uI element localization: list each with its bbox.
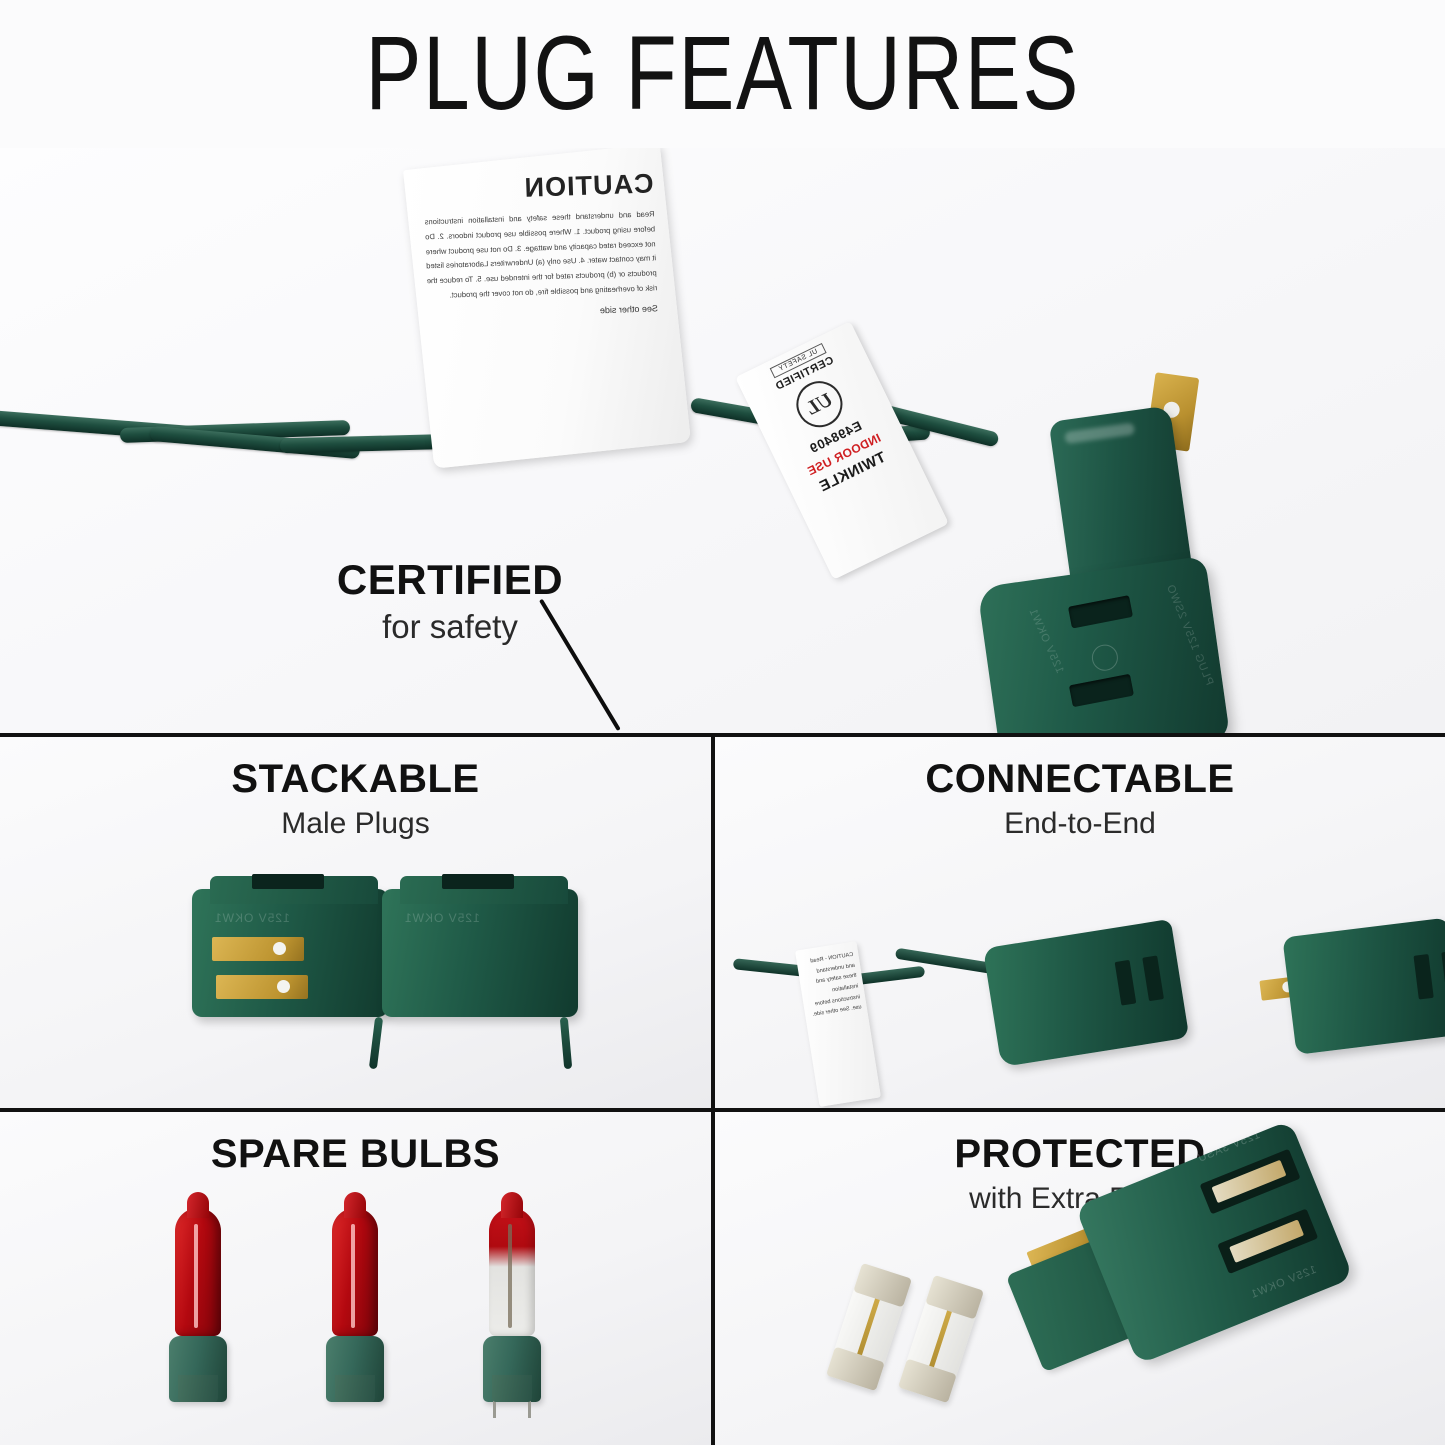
bulb-base — [326, 1336, 384, 1402]
panel-stackable: STACKABLE Male Plugs 125V OKW1 125V OKW1 — [0, 737, 711, 1108]
connectable-ends-photo: CAUTION - Read and understand these safe… — [715, 887, 1445, 1102]
fuse-cap — [925, 1275, 984, 1320]
bulb-glass — [175, 1208, 221, 1336]
panel-spare-bulbs: SPARE BULBS — [0, 1112, 711, 1445]
stacked-male-plugs-photo: 125V OKW1 125V OKW1 — [92, 877, 632, 1087]
socket-slot — [1142, 955, 1164, 1001]
socket-slot — [442, 874, 514, 889]
socket-slot — [1115, 960, 1137, 1006]
bulb-lead-wire — [493, 1398, 496, 1418]
socket-slot — [1068, 595, 1133, 628]
panel-protected: PROTECTED with Extra Fuses 125V 3ASU 125… — [715, 1112, 1445, 1445]
mini-bulb — [161, 1208, 235, 1402]
plug-mold-text: 125V OKW1 — [404, 911, 480, 925]
caution-tag-body: Read and understand these safety and ins… — [424, 207, 657, 304]
panel-protected-heading: PROTECTED — [715, 1132, 1445, 1177]
mini-bulb — [318, 1208, 392, 1402]
certified-callout: CERTIFIED for safety — [0, 556, 900, 646]
bulb-base — [169, 1336, 227, 1402]
caution-tag-small: CAUTION - Read and understand these safe… — [795, 941, 881, 1107]
certified-callout-sub: for safety — [0, 608, 900, 646]
installed-fuse — [1211, 1160, 1286, 1203]
bulb-glass — [489, 1208, 535, 1336]
male-plug-end — [1259, 903, 1445, 1074]
bulb-glass — [332, 1208, 378, 1336]
ul-certification-tag: UL SAFETY CERTIFIED UL E498409 INDOOR US… — [735, 321, 949, 579]
panel-connectable-heading: CONNECTABLE — [715, 757, 1445, 802]
female-socket-end — [980, 901, 1192, 1084]
page-title: PLUG FEATURES — [365, 14, 1080, 134]
socket-slot — [1441, 951, 1445, 997]
panel-connectable-sub: End-to-End — [715, 807, 1445, 841]
ul-emboss-icon — [1090, 643, 1119, 672]
brass-prong-icon — [212, 937, 304, 961]
caution-tag-heading: CAUTION — [423, 168, 654, 207]
certified-callout-heading: CERTIFIED — [0, 556, 900, 604]
panel-connectable: CONNECTABLE End-to-End CAUTION - Read an… — [715, 737, 1445, 1108]
bulb-lead-wire — [528, 1398, 531, 1418]
plug-body: 125V OKW1 PLUG 125V 2SWO — [977, 556, 1231, 733]
socket-slot — [1069, 674, 1134, 707]
plug-lip — [210, 876, 378, 904]
plug-mold-text: 125V OKW1 — [214, 911, 290, 925]
caution-tag: CAUTION Read and understand these safety… — [403, 148, 691, 469]
fuse-cap — [898, 1359, 957, 1404]
glass-fuse — [898, 1275, 984, 1403]
socket-body — [983, 919, 1189, 1067]
plug-body — [1282, 917, 1445, 1055]
male-plug: 125V OKW1 — [192, 889, 388, 1017]
plug-lip — [400, 876, 568, 904]
cord-tail — [560, 1017, 573, 1069]
socket-slot — [252, 874, 324, 889]
male-plug: 125V OKW1 — [382, 889, 578, 1017]
fuse-cap — [826, 1347, 885, 1392]
caution-tag-small-text: CAUTION - Read and understand these safe… — [795, 941, 869, 1029]
green-stacking-plug: 125V OKW1 PLUG 125V 2SWO — [936, 372, 1287, 733]
plug-mold-text-bottom: 125V OKW1 — [1249, 1264, 1319, 1301]
cord-tail — [369, 1017, 383, 1070]
glass-fuse — [826, 1263, 912, 1391]
brass-prong-icon — [216, 975, 308, 999]
panel-spare-bulbs-heading: SPARE BULBS — [0, 1132, 711, 1177]
title-bar: PLUG FEATURES — [0, 0, 1445, 148]
fuse-bay — [1217, 1208, 1318, 1274]
fuse-cap — [853, 1263, 912, 1308]
bulb-base — [483, 1336, 541, 1402]
panel-stackable-heading: STACKABLE — [0, 757, 711, 802]
plug-mold-text-left: 125V OKW1 — [1026, 606, 1065, 675]
spare-bulbs-photo — [120, 1208, 590, 1433]
caution-tag-footer: See other side — [428, 303, 658, 321]
plug-mold-text-right: PLUG 125V 2SWO — [1164, 582, 1216, 687]
panel-stackable-sub: Male Plugs — [0, 807, 711, 841]
installed-fuse — [1229, 1219, 1304, 1262]
socket-slot — [1414, 954, 1434, 1000]
mini-bulb-clear — [475, 1208, 549, 1402]
